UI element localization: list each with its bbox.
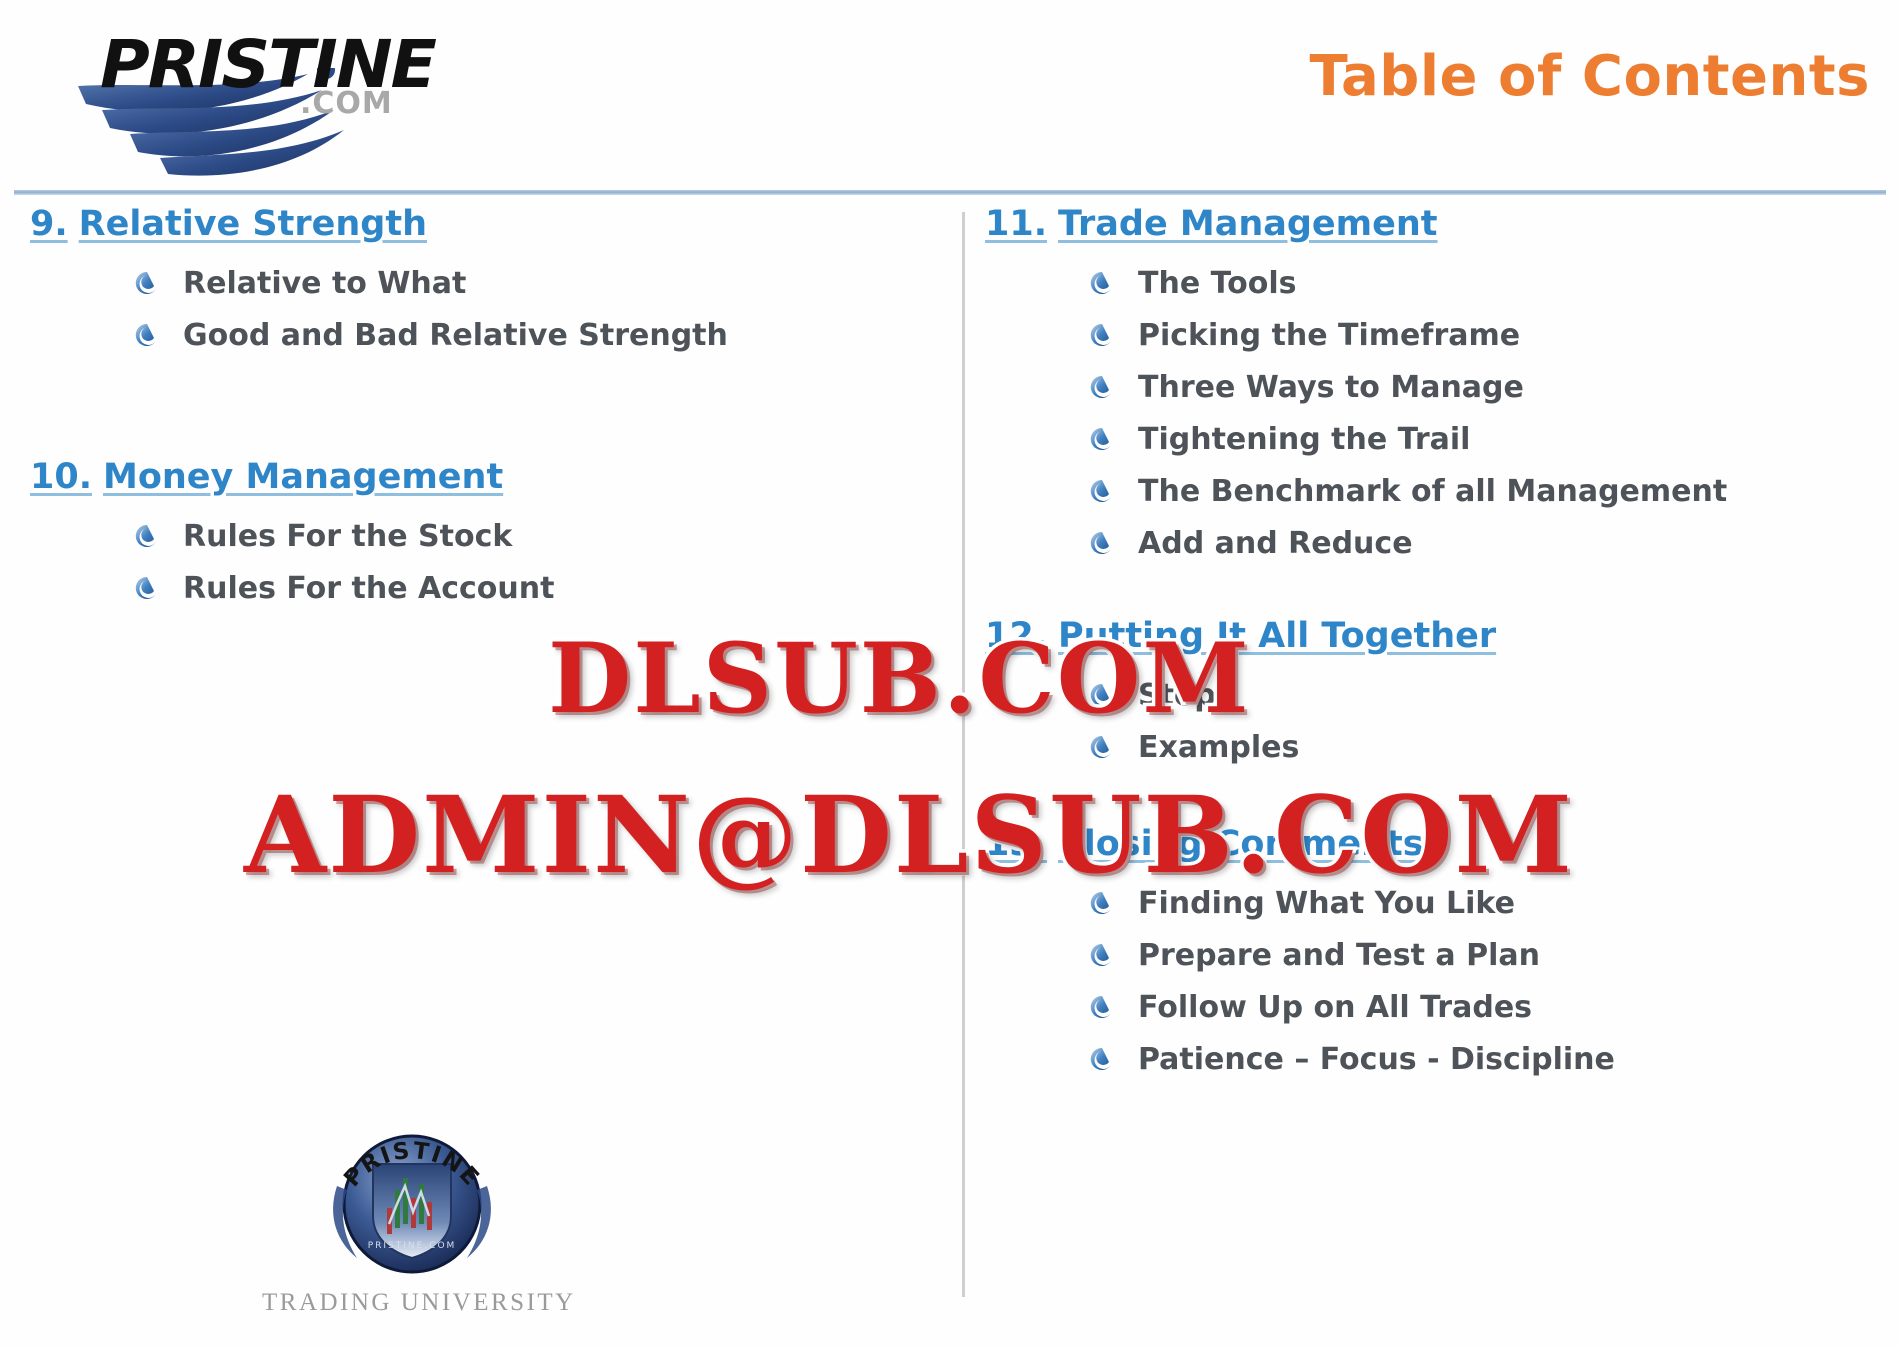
- toc-section-13-heading[interactable]: 13. Closing Comments: [985, 824, 1615, 864]
- toc-section-12-title[interactable]: Putting It All Together: [1058, 616, 1496, 656]
- spiral-bullet-icon: [1089, 270, 1115, 296]
- toc-section-11-number: 11.: [985, 204, 1047, 244]
- spiral-bullet-icon: [1089, 426, 1115, 452]
- spiral-bullet-icon: [1089, 530, 1115, 556]
- list-item[interactable]: Good and Bad Relative Strength: [30, 309, 728, 361]
- toc-section-10[interactable]: 10. Money Management Rules For the Stock: [30, 457, 554, 614]
- pristine-logo: PRISTINE .COM: [42, 8, 462, 178]
- toc-section-9-number: 9.: [30, 204, 68, 244]
- slide-table-of-contents: PRISTINE .COM Table of Contents 9. Relat…: [0, 0, 1898, 1349]
- spiral-bullet-icon: [134, 270, 160, 296]
- toc-section-10-title[interactable]: Money Management: [103, 457, 503, 497]
- list-item-label: The Benchmark of all Management: [1138, 474, 1727, 509]
- list-item-label: Tightening the Trail: [1138, 422, 1470, 457]
- toc-section-9-heading[interactable]: 9. Relative Strength: [30, 204, 728, 244]
- seal-icon: PRISTINE.COM PRISTINE: [317, 1112, 507, 1287]
- spiral-bullet-icon: [1089, 942, 1115, 968]
- list-item-label: Patience – Focus - Discipline: [1138, 1042, 1615, 1077]
- list-item[interactable]: Picking the Timeframe: [985, 309, 1727, 361]
- list-item-label: Three Ways to Manage: [1138, 370, 1524, 405]
- list-item-label: Follow Up on All Trades: [1138, 990, 1532, 1025]
- list-item[interactable]: Three Ways to Manage: [985, 361, 1727, 413]
- toc-section-13-number: 13.: [985, 824, 1047, 864]
- spiral-bullet-icon: [1089, 478, 1115, 504]
- list-item-label: The Tools: [1138, 266, 1296, 301]
- list-item-label: Add and Reduce: [1138, 526, 1413, 561]
- header-divider: [14, 190, 1886, 195]
- list-item[interactable]: Rules For the Account: [30, 562, 554, 614]
- seal-inner-label: PRISTINE.COM: [368, 1241, 457, 1251]
- list-item-label: Good and Bad Relative Strength: [183, 318, 728, 353]
- spiral-bullet-icon: [1089, 374, 1115, 400]
- slide-header: PRISTINE .COM Table of Contents: [0, 0, 1898, 192]
- toc-section-9[interactable]: 9. Relative Strength Relative to What: [30, 204, 728, 361]
- toc-section-12[interactable]: 12. Putting It All Together Steps Exampl…: [985, 616, 1496, 773]
- spiral-bullet-icon: [134, 523, 160, 549]
- toc-section-10-number: 10.: [30, 457, 92, 497]
- list-item[interactable]: Prepare and Test a Plan: [985, 929, 1615, 981]
- spiral-bullet-icon: [134, 575, 160, 601]
- list-item[interactable]: Add and Reduce: [985, 517, 1727, 569]
- toc-section-11-heading[interactable]: 11. Trade Management: [985, 204, 1727, 244]
- toc-section-12-items: Steps Examples: [985, 669, 1496, 773]
- toc-section-13-title[interactable]: Closing Comments: [1058, 824, 1424, 864]
- pristine-dotcom: .COM: [300, 86, 393, 121]
- list-item-label: Finding What You Like: [1138, 886, 1515, 921]
- toc-section-10-heading[interactable]: 10. Money Management: [30, 457, 554, 497]
- list-item[interactable]: Finding What You Like: [985, 877, 1615, 929]
- spiral-bullet-icon: [1089, 994, 1115, 1020]
- list-item[interactable]: Relative to What: [30, 257, 728, 309]
- seal-label: TRADING UNIVERSITY: [262, 1289, 562, 1317]
- spiral-bullet-icon: [1089, 1046, 1115, 1072]
- list-item-label: Prepare and Test a Plan: [1138, 938, 1540, 973]
- list-item-label: Picking the Timeframe: [1138, 318, 1520, 353]
- toc-section-11-items: The Tools Picking the Timeframe Three Wa…: [985, 257, 1727, 569]
- list-item-label: Rules For the Stock: [183, 519, 512, 554]
- list-item[interactable]: Examples: [985, 721, 1496, 773]
- spiral-bullet-icon: [1089, 682, 1115, 708]
- page-title: Table of Contents: [1309, 44, 1870, 109]
- list-item[interactable]: The Benchmark of all Management: [985, 465, 1727, 517]
- list-item-label: Rules For the Account: [183, 571, 554, 606]
- toc-section-10-items: Rules For the Stock Rules For the Accoun…: [30, 510, 554, 614]
- spiral-bullet-icon: [1089, 322, 1115, 348]
- list-item[interactable]: Tightening the Trail: [985, 413, 1727, 465]
- toc-section-13-items: Finding What You Like Prepare and Test a…: [985, 877, 1615, 1085]
- list-item-label: Relative to What: [183, 266, 466, 301]
- toc-section-13[interactable]: 13. Closing Comments Finding What You Li…: [985, 824, 1615, 1085]
- toc-section-12-heading[interactable]: 12. Putting It All Together: [985, 616, 1496, 656]
- spiral-bullet-icon: [1089, 734, 1115, 760]
- pristine-university-seal: PRISTINE.COM PRISTINE TRADING UNIVERSITY: [262, 1112, 562, 1344]
- spiral-bullet-icon: [1089, 890, 1115, 916]
- toc-section-12-number: 12.: [985, 616, 1047, 656]
- seal-graphic: PRISTINE.COM PRISTINE: [317, 1112, 507, 1287]
- list-item[interactable]: Rules For the Stock: [30, 510, 554, 562]
- toc-section-11-title[interactable]: Trade Management: [1058, 204, 1438, 244]
- list-item[interactable]: Follow Up on All Trades: [985, 981, 1615, 1033]
- list-item[interactable]: Patience – Focus - Discipline: [985, 1033, 1615, 1085]
- toc-section-9-title[interactable]: Relative Strength: [79, 204, 427, 244]
- toc-section-9-items: Relative to What Good and Bad Relative S…: [30, 257, 728, 361]
- list-item[interactable]: The Tools: [985, 257, 1727, 309]
- list-item-label: Examples: [1138, 730, 1299, 765]
- spiral-bullet-icon: [134, 322, 160, 348]
- list-item-label: Steps: [1138, 678, 1234, 713]
- toc-section-11[interactable]: 11. Trade Management The Tools Picking t…: [985, 204, 1727, 569]
- list-item[interactable]: Steps: [985, 669, 1496, 721]
